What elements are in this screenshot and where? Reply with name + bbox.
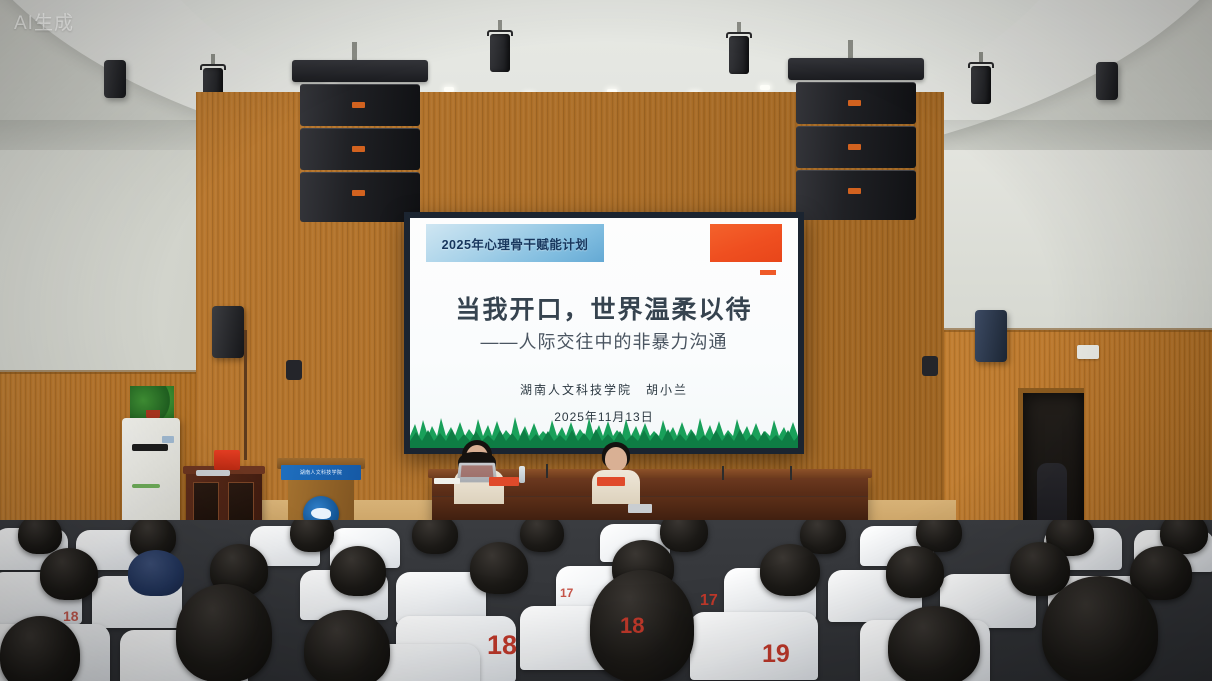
- podium-banner: 湖南人文科技学院: [281, 465, 361, 480]
- wall-speaker-upper-left: [104, 60, 126, 98]
- seat-number: 18: [620, 613, 644, 639]
- audience-head: [760, 544, 820, 596]
- water-bottle: [519, 466, 525, 483]
- slide-subtitle: ——人际交往中的非暴力沟通: [410, 328, 798, 354]
- papers-on-table: [434, 478, 460, 484]
- seat-number: 17: [560, 586, 573, 600]
- audience-head: [660, 520, 708, 552]
- seat-number: 19: [762, 640, 790, 669]
- cabinet-tray: [196, 470, 230, 476]
- slide-main-title: 当我开口，世界温柔以待: [410, 290, 798, 326]
- slide-banner-text: 2025年心理骨干赋能计划: [442, 234, 589, 253]
- audience-head: [1010, 542, 1070, 596]
- slide-banner: 2025年心理骨干赋能计划: [426, 224, 604, 262]
- stage-light: [968, 60, 994, 106]
- slide-accent-dash: [760, 270, 776, 275]
- projector-screen: 2025年心理骨干赋能计划 当我开口，世界温柔以待 ——人际交往中的非暴力沟通 …: [404, 212, 804, 454]
- audience-head-foreground: [176, 584, 272, 681]
- ac-indicator: [132, 484, 160, 488]
- audience-head-foreground: [888, 606, 980, 681]
- seat[interactable]: [690, 612, 818, 680]
- audience-head: [470, 542, 528, 594]
- wall-fixture: [1077, 345, 1099, 359]
- speaker-pole-left: [244, 330, 247, 460]
- stage-light: [487, 28, 513, 74]
- wall-speaker-upper-right: [1096, 62, 1118, 100]
- left-upper-wall: [0, 150, 200, 380]
- audience-head: [886, 546, 944, 598]
- seat-number: 18: [63, 608, 79, 624]
- audience-head-foreground: [1042, 576, 1158, 681]
- wall-speaker-left: [212, 306, 244, 358]
- audience-head: [520, 520, 564, 552]
- ac-vent: [132, 444, 168, 451]
- table-plaque: [628, 504, 652, 513]
- auditorium-photo: 2025年心理骨干赋能计划 当我开口，世界温柔以待 ——人际交往中的非暴力沟通 …: [0, 0, 1212, 681]
- spotlight-fixture-right: [922, 356, 938, 376]
- slide-author: 湖南人文科技学院 胡小兰: [410, 381, 798, 398]
- ac-badge: [162, 436, 174, 443]
- paneling-cap: [0, 370, 196, 374]
- slide-surface: 2025年心理骨干赋能计划 当我开口，世界温柔以待 ——人际交往中的非暴力沟通 …: [410, 218, 798, 448]
- seat-number: 18: [487, 630, 517, 661]
- red-folder: [597, 477, 625, 486]
- audience-head: [40, 548, 98, 600]
- audience-head: [412, 520, 458, 554]
- spotlight-fixture-left: [286, 360, 302, 380]
- table-microphone: [790, 466, 792, 480]
- wall-speaker-right: [975, 310, 1007, 362]
- table-microphone: [722, 466, 724, 480]
- slide-accent-block: [710, 224, 782, 262]
- ceiling-downlight: [760, 85, 770, 90]
- audience-head-capped: [128, 550, 184, 596]
- audience-head: [18, 520, 62, 554]
- audience-head: [290, 520, 334, 552]
- podium-banner-text: 湖南人文科技学院: [300, 469, 342, 476]
- seat-number: 17: [700, 592, 718, 610]
- table-microphone: [546, 464, 548, 478]
- audience-area: [0, 520, 1212, 681]
- stage-light: [726, 30, 752, 76]
- audience-head-foreground: [304, 610, 390, 681]
- red-display-box: [214, 450, 240, 470]
- ai-generated-watermark: AI生成: [14, 8, 74, 35]
- red-folder: [489, 477, 519, 486]
- audience-head: [330, 546, 386, 596]
